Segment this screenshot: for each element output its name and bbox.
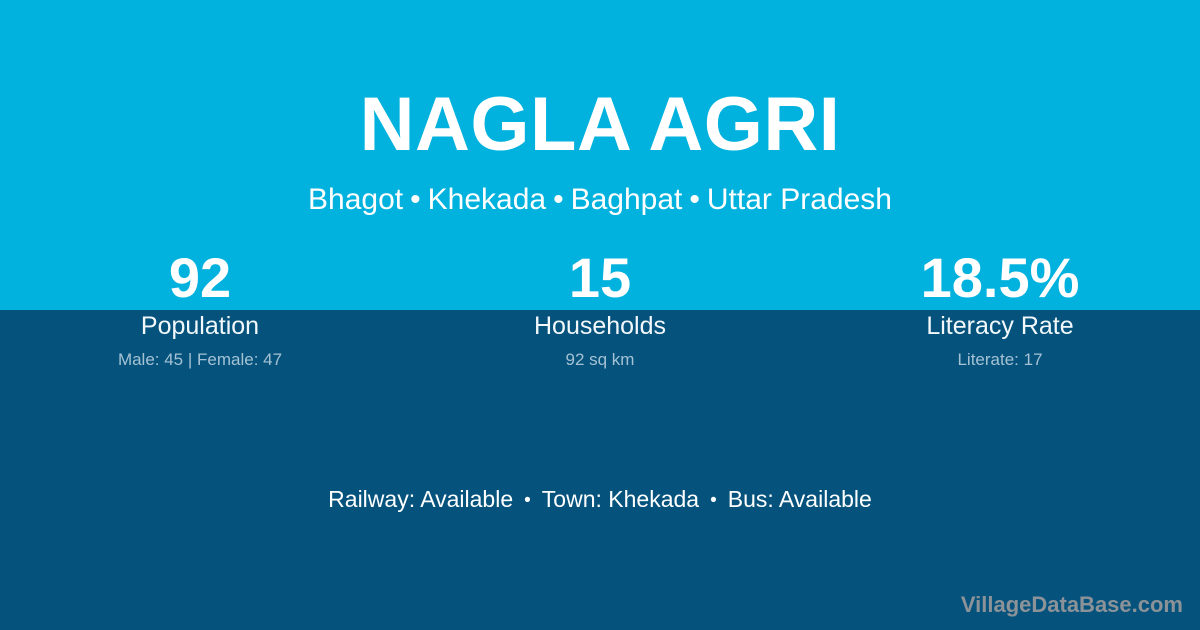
breadcrumb-separator-icon: • xyxy=(546,183,571,216)
stat-sublabel: 92 sq km xyxy=(400,349,800,371)
amenity-separator-icon: • xyxy=(699,490,728,511)
stat-label: Households xyxy=(400,310,800,342)
stat-households: 15 Households 92 sq km xyxy=(400,246,800,371)
breadcrumb-item-block: Khekada xyxy=(428,183,546,216)
stat-sublabel: Male: 45 | Female: 47 xyxy=(0,349,400,371)
amenity-separator-icon: • xyxy=(513,490,542,511)
stat-label: Population xyxy=(0,310,400,342)
stat-sublabel: Literate: 17 xyxy=(800,349,1200,371)
stat-literacy-rate: 18.5% Literacy Rate Literate: 17 xyxy=(800,246,1200,371)
site-watermark: VillageDataBase.com xyxy=(961,591,1183,619)
breadcrumb-separator-icon: • xyxy=(403,183,428,216)
stat-value: 15 xyxy=(400,246,800,310)
amenity-railway: Railway: Available xyxy=(328,486,513,512)
page-title: NAGLA AGRI xyxy=(0,82,1200,168)
stat-value: 18.5% xyxy=(800,246,1200,310)
stat-label: Literacy Rate xyxy=(800,310,1200,342)
stat-value: 92 xyxy=(0,246,400,310)
breadcrumb-separator-icon: • xyxy=(682,183,707,216)
breadcrumb-item-state: Uttar Pradesh xyxy=(707,183,892,216)
amenity-bus: Bus: Available xyxy=(728,486,872,512)
village-info-card: NAGLA AGRI Bhagot•Khekada•Baghpat•Uttar … xyxy=(0,0,1200,630)
stats-row: 92 Population Male: 45 | Female: 47 15 H… xyxy=(0,246,1200,371)
amenity-town: Town: Khekada xyxy=(542,486,699,512)
breadcrumb: Bhagot•Khekada•Baghpat•Uttar Pradesh xyxy=(0,181,1200,219)
breadcrumb-item-village: Bhagot xyxy=(308,183,403,216)
amenities-row: Railway: Available•Town: Khekada•Bus: Av… xyxy=(0,484,1200,516)
breadcrumb-item-district: Baghpat xyxy=(571,183,683,216)
stat-population: 92 Population Male: 45 | Female: 47 xyxy=(0,246,400,371)
